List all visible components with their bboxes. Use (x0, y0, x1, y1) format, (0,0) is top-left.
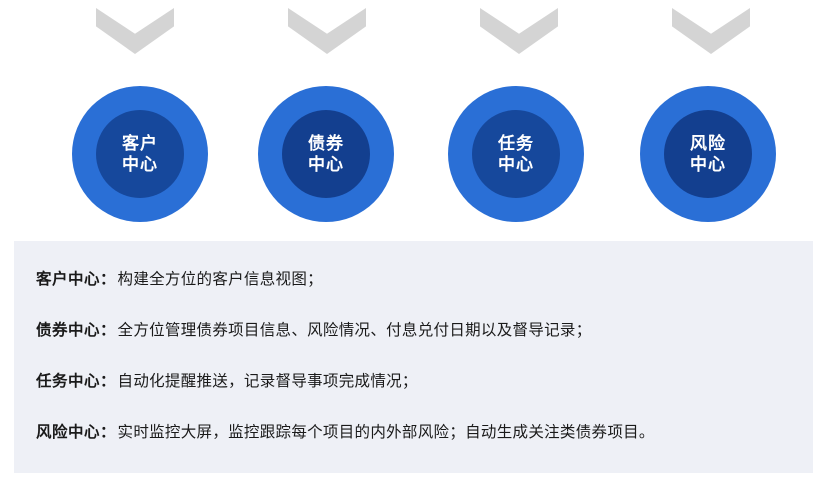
chevron-down-icon (96, 8, 174, 54)
node-label-line1: 风险 (690, 133, 726, 154)
node-label-line1: 任务 (498, 133, 534, 154)
legend-colon: ： (100, 420, 118, 442)
legend-term: 任务中心 (36, 369, 100, 391)
node-inner-circle: 债券 中心 (282, 110, 370, 198)
node-label-line1: 客户 (122, 133, 158, 154)
chevron-down-icon (288, 8, 366, 54)
legend-description: 全方位管理债券项目信息、风险情况、付息兑付日期以及督导记录； (118, 318, 592, 340)
chevron-down-icon (672, 8, 750, 54)
legend-colon: ： (100, 267, 118, 289)
node-label-line1: 债券 (308, 133, 344, 154)
chevron-row (0, 8, 827, 68)
legend-row: 客户中心 ： 构建全方位的客户信息视图； (36, 267, 323, 289)
chevron-down-icon (480, 8, 558, 54)
legend-term: 债券中心 (36, 318, 100, 340)
node-risk-center[interactable]: 风险 中心 (640, 86, 776, 222)
node-label-line2: 中心 (122, 154, 158, 175)
node-task-center[interactable]: 任务 中心 (448, 86, 584, 222)
node-label-line2: 中心 (308, 154, 344, 175)
legend-description: 自动化提醒推送，记录督导事项完成情况； (118, 369, 418, 391)
node-customer-center[interactable]: 客户 中心 (72, 86, 208, 222)
legend-term: 客户中心 (36, 267, 100, 289)
legend-description: 构建全方位的客户信息视图； (118, 267, 323, 289)
node-inner-circle: 任务 中心 (472, 110, 560, 198)
legend-row: 债券中心 ： 全方位管理债券项目信息、风险情况、付息兑付日期以及督导记录； (36, 318, 592, 340)
legend-description: 实时监控大屏，监控跟踪每个项目的内外部风险；自动生成关注类债券项目。 (118, 420, 655, 442)
node-inner-circle: 客户 中心 (96, 110, 184, 198)
node-inner-circle: 风险 中心 (664, 110, 752, 198)
circle-node-row: 客户 中心 债券 中心 任务 中心 风险 中心 (0, 86, 827, 226)
legend-row: 任务中心 ： 自动化提醒推送，记录督导事项完成情况； (36, 369, 418, 391)
legend-panel: 客户中心 ： 构建全方位的客户信息视图； 债券中心 ： 全方位管理债券项目信息、… (14, 241, 813, 473)
legend-term: 风险中心 (36, 420, 100, 442)
legend-colon: ： (100, 369, 118, 391)
legend-row: 风险中心 ： 实时监控大屏，监控跟踪每个项目的内外部风险；自动生成关注类债券项目… (36, 420, 655, 442)
node-label-line2: 中心 (498, 154, 534, 175)
legend-colon: ： (100, 318, 118, 340)
node-bond-center[interactable]: 债券 中心 (258, 86, 394, 222)
node-label-line2: 中心 (690, 154, 726, 175)
